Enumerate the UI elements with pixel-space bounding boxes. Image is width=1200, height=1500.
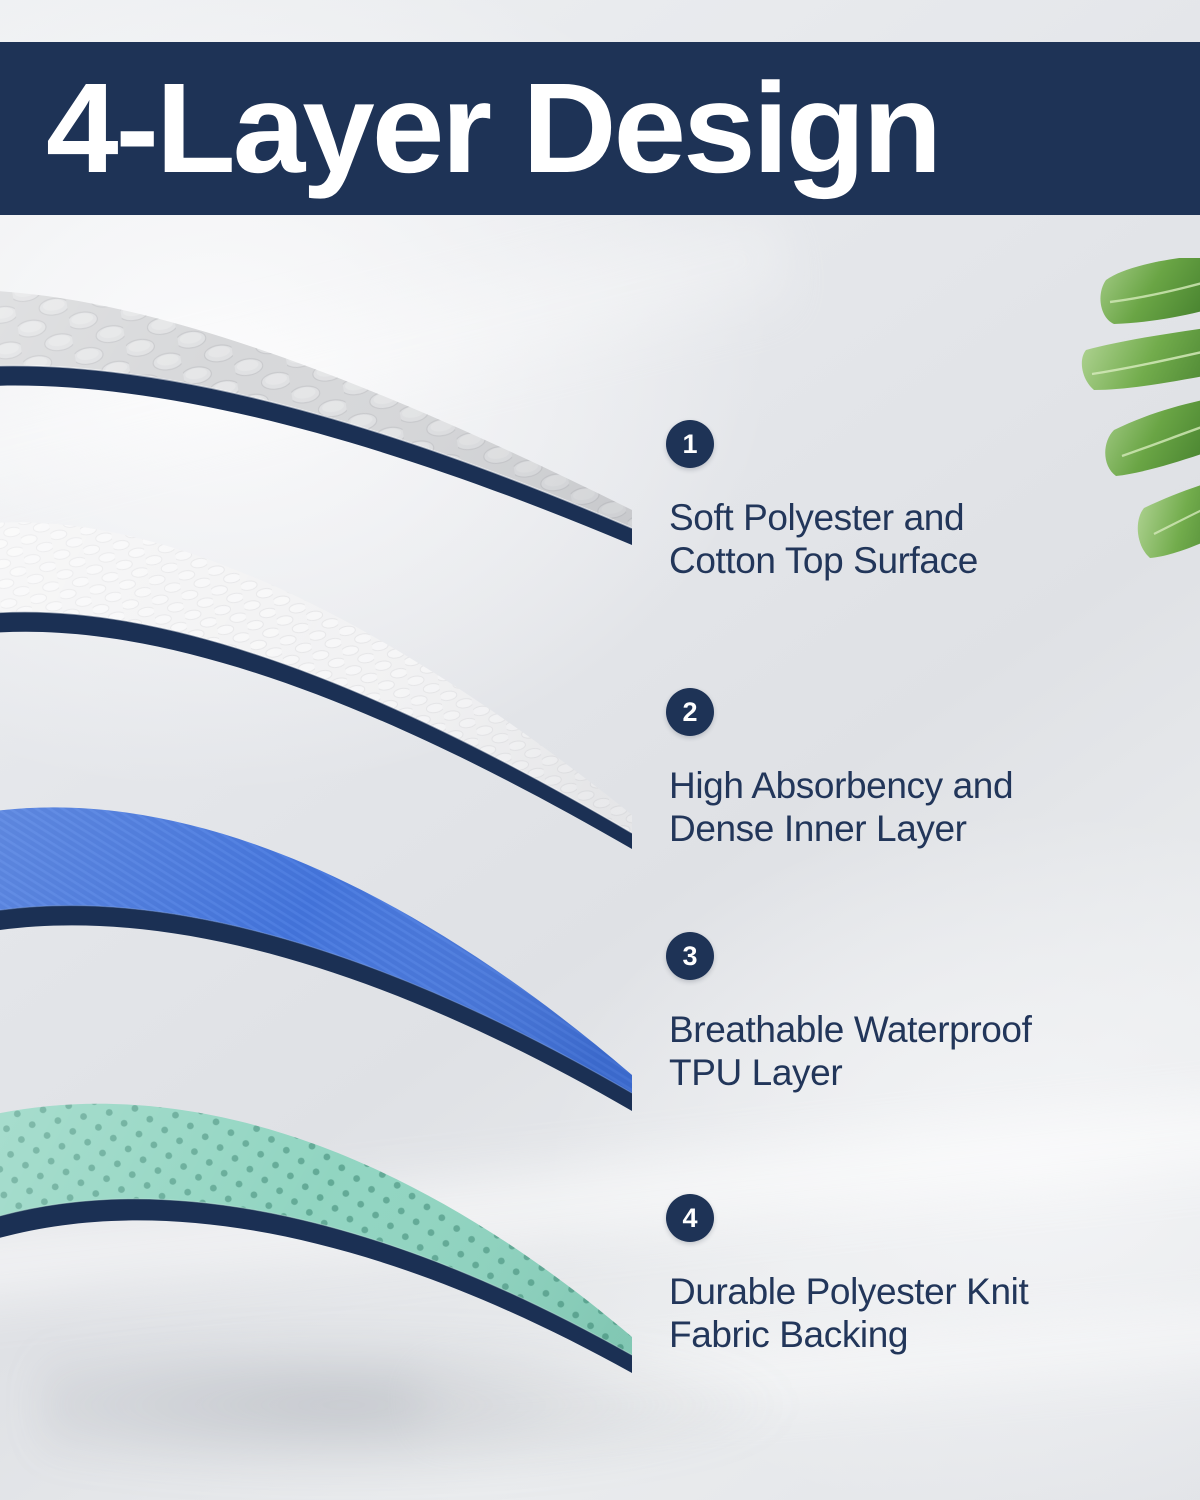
layer-number-badge-2: 2 — [666, 688, 714, 736]
infographic-page: 4-Layer Design — [0, 0, 1200, 1500]
page-title: 4-Layer Design — [46, 65, 939, 193]
layer-callout-4: 4 Durable Polyester Knit Fabric Backing — [666, 1194, 1176, 1357]
layer-stack-illustration — [0, 215, 700, 1500]
layer-callout-2: 2 High Absorbency and Dense Inner Layer — [666, 688, 1176, 851]
layer-label-1: Soft Polyester and Cotton Top Surface — [669, 496, 1176, 583]
layer-4-shape — [0, 1055, 700, 1475]
layer-callout-1: 1 Soft Polyester and Cotton Top Surface — [666, 420, 1176, 583]
header-banner: 4-Layer Design — [0, 42, 1200, 215]
layer-label-4: Durable Polyester Knit Fabric Backing — [669, 1270, 1176, 1357]
layer-number-badge-4: 4 — [666, 1194, 714, 1242]
layer-label-3: Breathable Waterproof TPU Layer — [669, 1008, 1176, 1095]
layer-label-2: High Absorbency and Dense Inner Layer — [669, 764, 1176, 851]
layer-number-badge-1: 1 — [666, 420, 714, 468]
layer-number-badge-3: 3 — [666, 932, 714, 980]
layer-callout-3: 3 Breathable Waterproof TPU Layer — [666, 932, 1176, 1095]
